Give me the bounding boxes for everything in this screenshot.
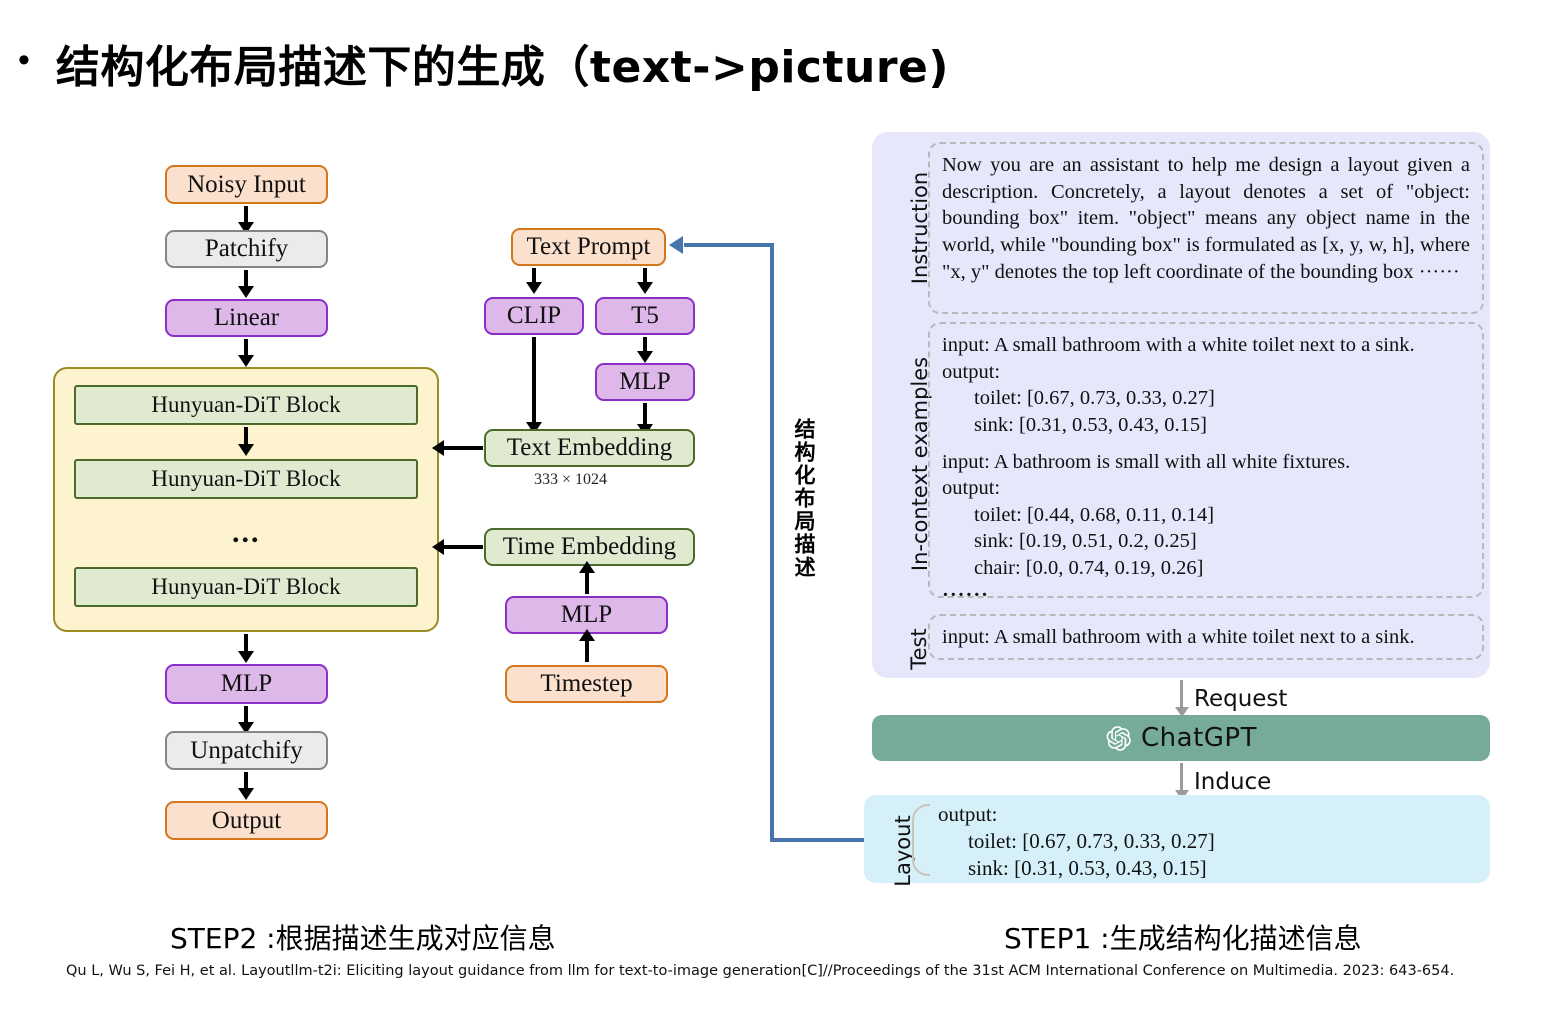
arrow-noisy-to-patchify (244, 206, 248, 223)
connector-arrowhead-icon (669, 236, 683, 254)
arrow-time-embedding-to-dit (443, 545, 483, 549)
in-context-examples-card: input: A small bathroom with a white toi… (928, 322, 1484, 598)
ic-spacer (942, 439, 1470, 449)
arrow-linear-to-dit (244, 339, 248, 356)
node-mlp-text[interactable]: MLP (595, 363, 695, 401)
arrow-unpatchify-to-output (244, 772, 248, 789)
arrow-clip-to-text-embedding (532, 337, 536, 423)
openai-logo-icon (1105, 725, 1132, 752)
arrow-dit1-to-dit2 (244, 427, 248, 445)
step1-caption: STEP1 :生成结构化描述信息 (1004, 917, 1362, 957)
layout-line-2: sink: [0.31, 0.53, 0.43, 0.15] (968, 856, 1207, 881)
title-bullet-icon: • (18, 43, 30, 77)
node-dit-block-1[interactable]: Hunyuan-DiT Block (74, 385, 418, 425)
text-embedding-dimension: 333 × 1024 (534, 471, 607, 489)
connector-segment-top (684, 243, 774, 247)
chatgpt-bar[interactable]: ChatGPT (872, 715, 1490, 761)
connector-segment-bottom (770, 838, 875, 842)
ic-line-0: input: A small bathroom with a white toi… (942, 332, 1470, 359)
node-noisy-input[interactable]: Noisy Input (165, 165, 328, 204)
node-dit-block-2[interactable]: Hunyuan-DiT Block (74, 459, 418, 499)
dit-blocks-ellipsis: ... (232, 516, 261, 550)
arrow-prompt-to-t5 (643, 268, 647, 283)
layout-brace-icon (912, 804, 930, 876)
node-linear[interactable]: Linear (165, 299, 328, 337)
node-mlp-output[interactable]: MLP (165, 664, 328, 704)
arrow-dit-to-mlp (244, 634, 248, 652)
node-text-prompt[interactable]: Text Prompt (511, 228, 666, 266)
arrow-mlptime-to-time-embedding (585, 572, 589, 594)
node-t5[interactable]: T5 (595, 297, 695, 335)
arrow-timestep-to-mlptime (585, 640, 589, 662)
step2-caption: STEP2 :根据描述生成对应信息 (170, 917, 556, 957)
arrow-patchify-to-linear (244, 270, 248, 287)
arrow-mlptext-to-text-embedding (643, 403, 647, 425)
slide-canvas: • 结构化布局描述下的生成（text->picture) Noisy Input… (0, 0, 1558, 1017)
arrow-induce (1180, 763, 1183, 791)
chatgpt-label: ChatGPT (1141, 723, 1257, 753)
arrow-text-embedding-to-dit (443, 446, 483, 450)
node-dit-block-3[interactable]: Hunyuan-DiT Block (74, 567, 418, 607)
arrow-t5-to-mlp (643, 337, 647, 352)
ic-line-2: toilet: [0.67, 0.73, 0.33, 0.27] (942, 385, 1470, 412)
layout-line-1: toilet: [0.67, 0.73, 0.33, 0.27] (968, 829, 1215, 854)
arrow-prompt-to-clip (532, 268, 536, 283)
node-text-embedding[interactable]: Text Embedding (484, 429, 695, 467)
layout-line-0: output: (938, 802, 998, 827)
connector-label: 结构化布局描述 (789, 418, 819, 579)
ic-line-4: input: A bathroom is small with all whit… (942, 449, 1470, 476)
node-clip[interactable]: CLIP (484, 297, 584, 335)
node-output[interactable]: Output (165, 801, 328, 840)
page-title-text: 结构化布局描述下的生成（text->picture) (56, 31, 949, 95)
test-input-text: input: A small bathroom with a white toi… (928, 614, 1484, 660)
ic-line-1: output: (942, 359, 1470, 386)
arrow-request (1180, 680, 1183, 708)
ic-line-3: sink: [0.31, 0.53, 0.43, 0.15] (942, 412, 1470, 439)
node-unpatchify[interactable]: Unpatchify (165, 731, 328, 770)
page-title: • 结构化布局描述下的生成（text->picture) (18, 28, 1418, 98)
ic-line-6: toilet: [0.44, 0.68, 0.11, 0.14] (942, 502, 1470, 529)
request-label: Request (1194, 686, 1287, 712)
ic-line-7: sink: [0.19, 0.51, 0.2, 0.25] (942, 528, 1470, 555)
induce-label: Induce (1194, 769, 1271, 795)
ic-line-9: ······ (942, 582, 1470, 609)
connector-segment-vertical (770, 243, 774, 842)
arrow-mlp-to-unpatchify (244, 706, 248, 723)
ic-line-8: chair: [0.0, 0.74, 0.19, 0.26] (942, 555, 1470, 582)
instruction-text: Now you are an assistant to help me desi… (928, 142, 1484, 314)
node-patchify[interactable]: Patchify (165, 230, 328, 268)
citation-text: Qu L, Wu S, Fei H, et al. Layoutllm-t2i:… (66, 963, 1454, 979)
node-timestep[interactable]: Timestep (505, 665, 668, 703)
ic-line-5: output: (942, 475, 1470, 502)
